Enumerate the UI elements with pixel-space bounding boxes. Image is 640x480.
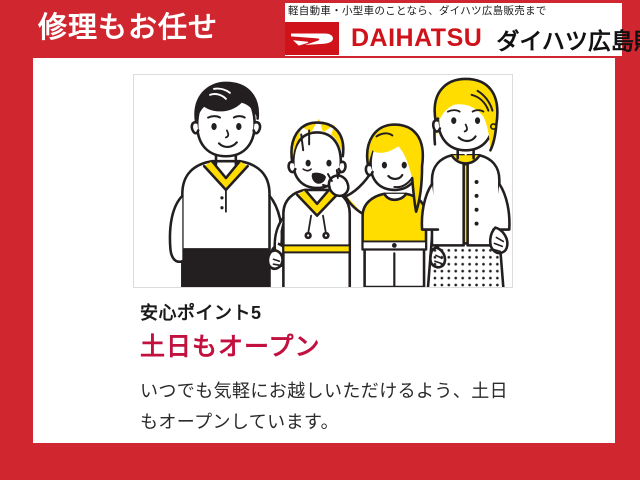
- brand-logo-block: 軽自動車・小型車のことなら、ダイハツ広島販売まで DAIHATSU ダイハツ広島…: [285, 3, 622, 56]
- illustration-frame: [133, 74, 513, 288]
- point-text-block: 安心ポイント5 土日もオープン いつでも気軽にお越しいただけるよう、土日もオープ…: [140, 300, 540, 438]
- logo-lockup: DAIHATSU ダイハツ広島販売: [285, 22, 622, 55]
- logo-wordmark: DAIHATSU: [351, 24, 482, 53]
- point-title: 土日もオープン: [140, 330, 540, 364]
- advertisement-banner: 修理もお任せ 軽自動車・小型車のことなら、ダイハツ広島販売まで DAIHATSU…: [0, 0, 640, 480]
- content-panel: 安心ポイント5 土日もオープン いつでも気軽にお越しいただけるよう、土日もオープ…: [33, 58, 615, 443]
- daihatsu-d-emblem-icon: [285, 22, 339, 55]
- page-title: 修理もお任せ: [38, 8, 218, 48]
- logo-dealer-name: ダイハツ広島販売: [496, 22, 640, 56]
- header-bar: 修理もお任せ 軽自動車・小型車のことなら、ダイハツ広島販売まで DAIHATSU…: [0, 0, 640, 58]
- logo-tagline: 軽自動車・小型車のことなら、ダイハツ広島販売まで: [288, 4, 547, 18]
- point-label: 安心ポイント5: [140, 300, 540, 326]
- point-body-text: いつでも気軽にお越しいただけるよう、土日もオープンしています。: [140, 376, 515, 438]
